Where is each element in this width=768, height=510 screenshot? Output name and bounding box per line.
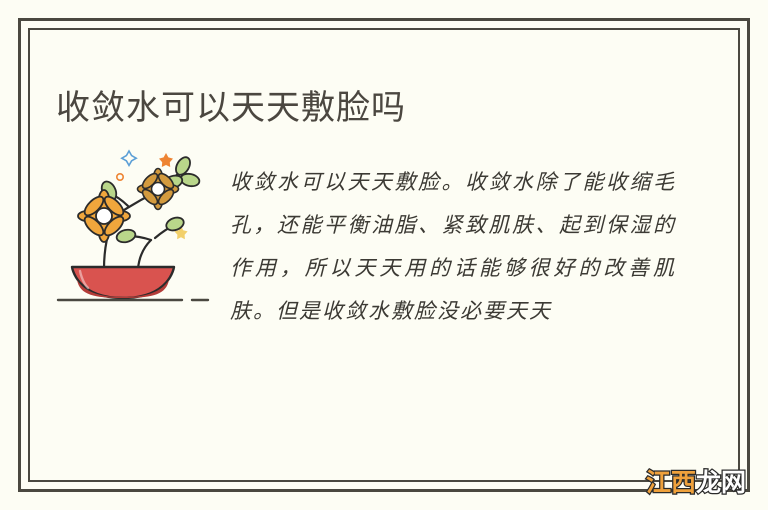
article-content-row: 收敛水可以天天敷脸。收敛水除了能收缩毛孔，还能平衡油脂、紧致肌肤、起到保湿的作用… [56, 140, 676, 354]
sparkle-orange-dot-icon [117, 174, 123, 180]
watermark-text-primary: 江西 [646, 468, 696, 497]
page-title: 收敛水可以天天敷脸吗 [56, 85, 406, 131]
potted-flowers-illustration [56, 144, 216, 319]
site-watermark: 江西龙网 [646, 468, 746, 498]
article-card-page: 收敛水可以天天敷脸吗 [0, 0, 768, 510]
article-body-text: 收敛水可以天天敷脸。收敛水除了能收缩毛孔，还能平衡油脂、紧致肌肤、起到保湿的作用… [230, 161, 676, 333]
sparkle-orange-star-icon [159, 153, 173, 167]
watermark-text-secondary: 龙网 [696, 468, 746, 497]
sparkle-blue-star-icon [122, 151, 136, 165]
flower-pot [72, 267, 174, 298]
flower-small [138, 169, 179, 210]
